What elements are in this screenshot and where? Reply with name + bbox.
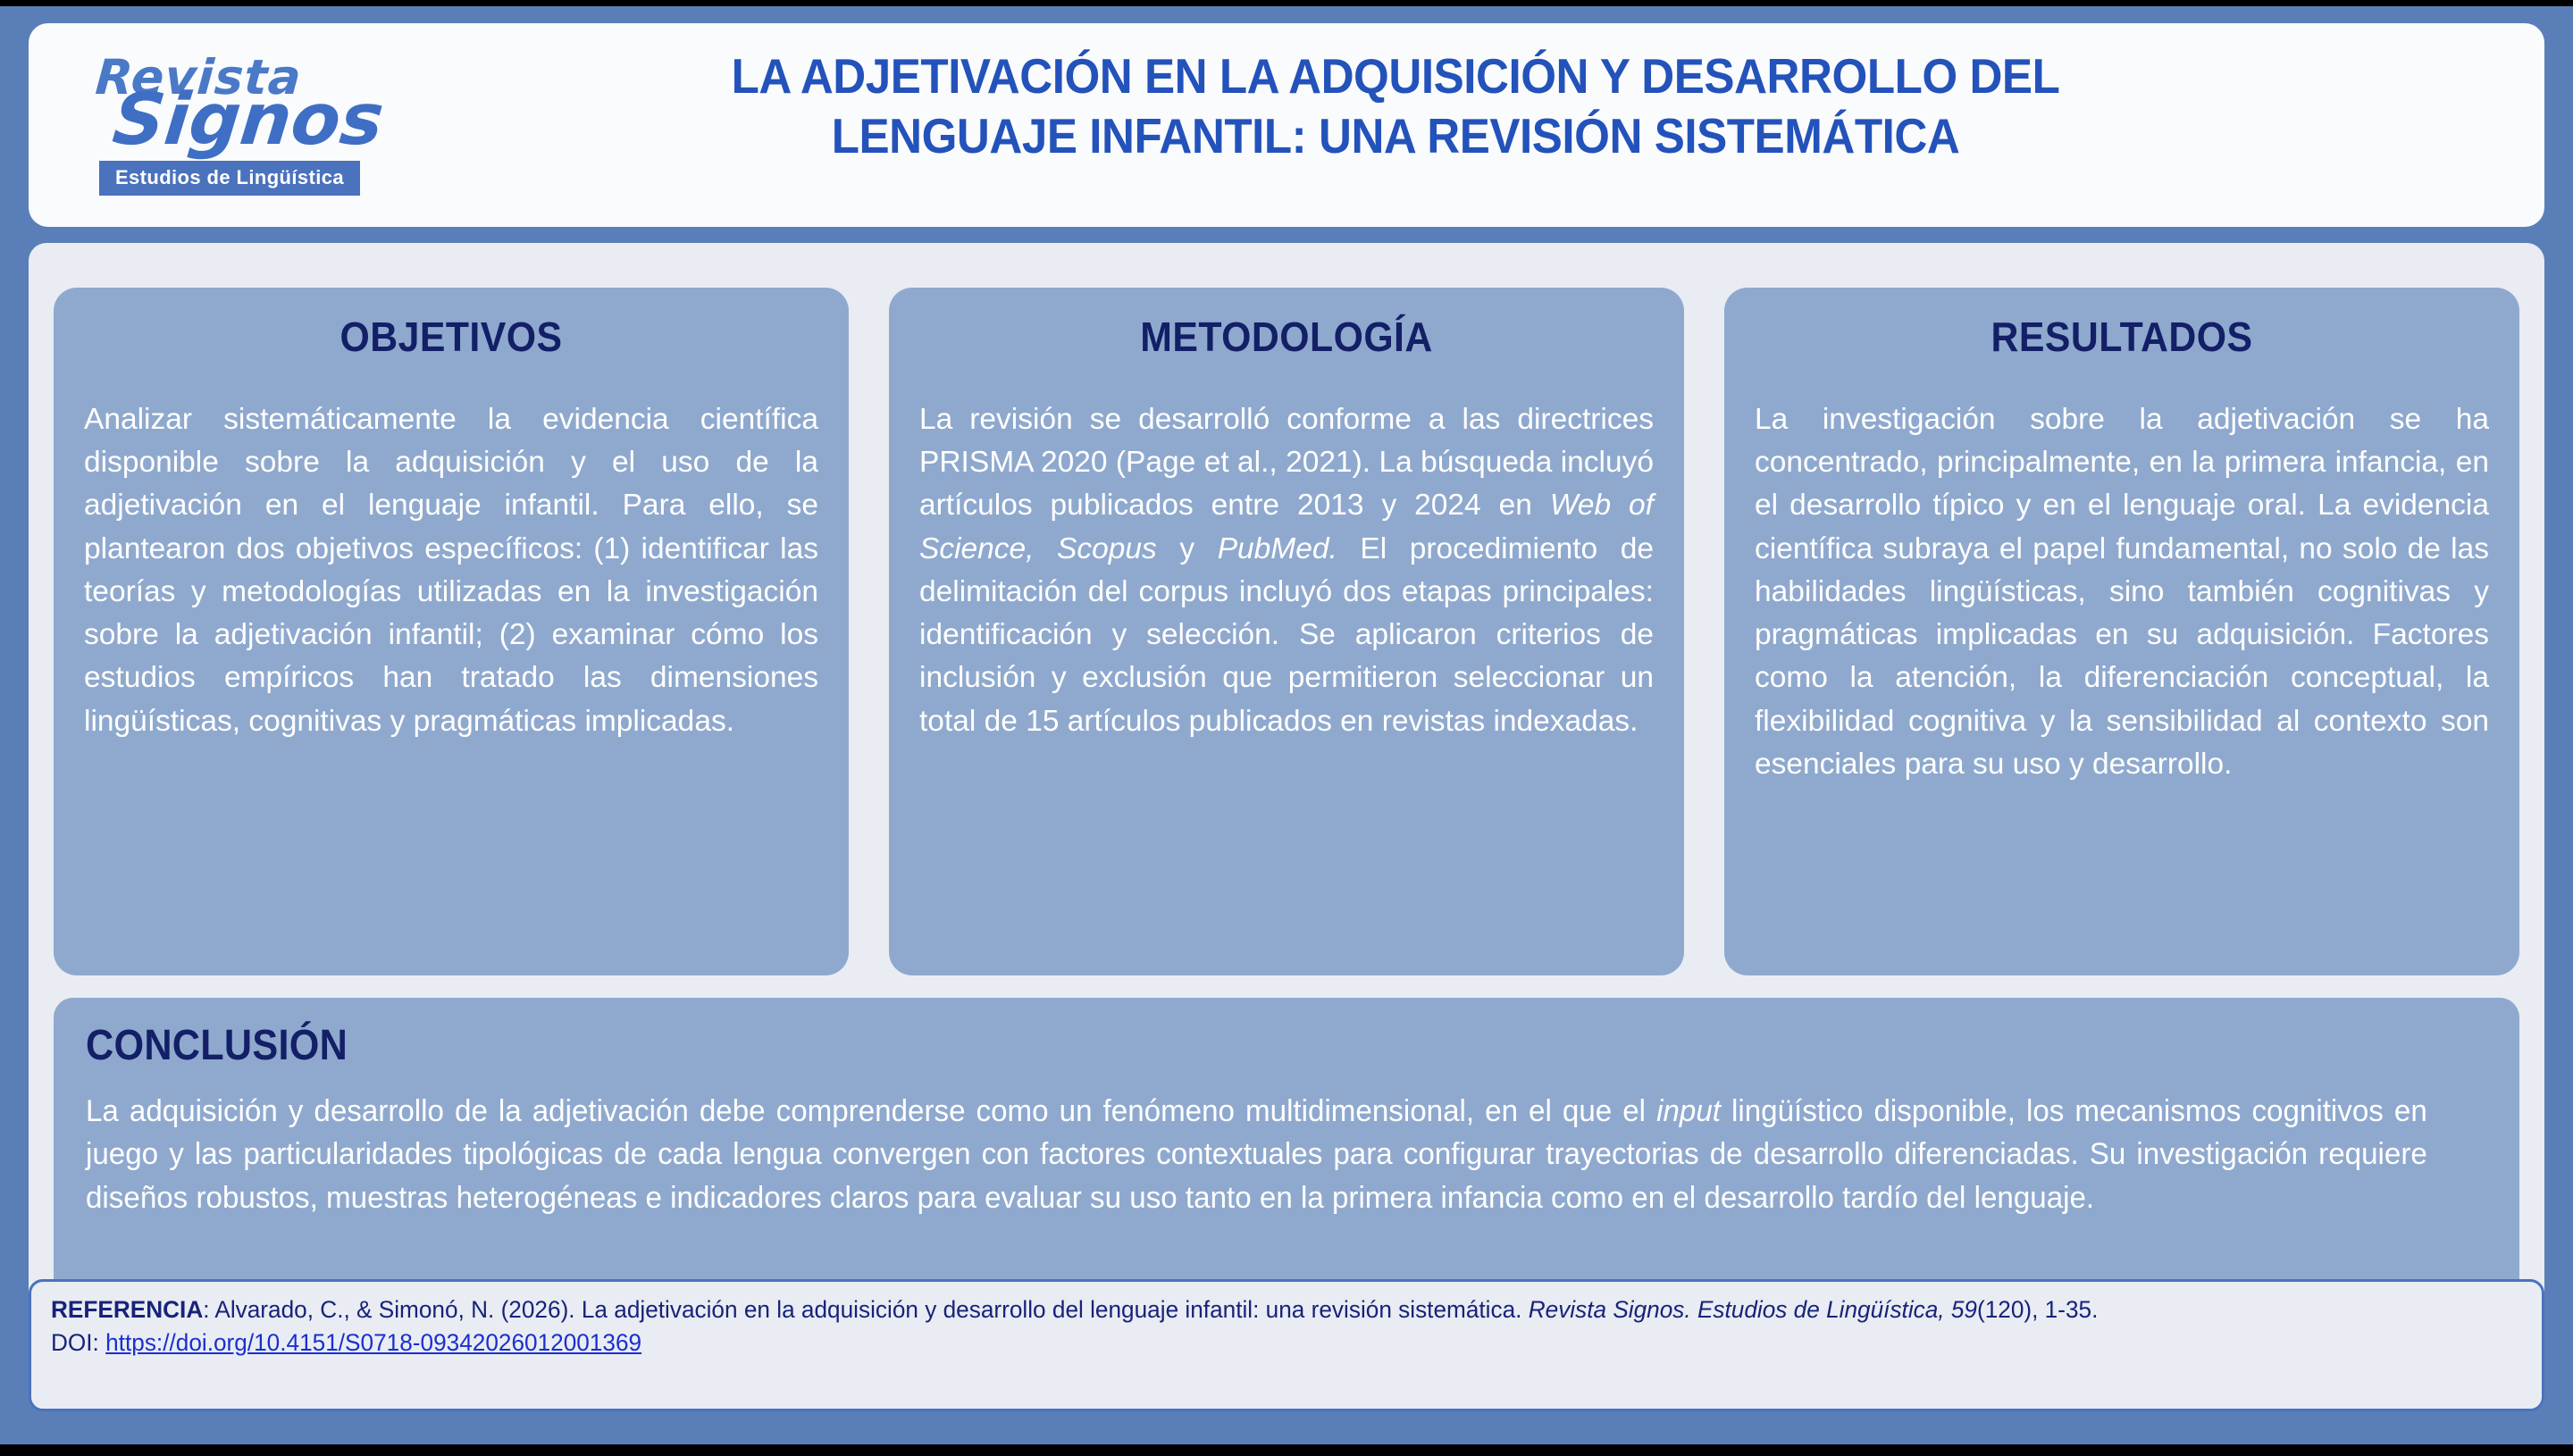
card-body-resultados: La investigación sobre la adjetivación s… <box>1755 398 2489 786</box>
card-title-objetivos: OBJETIVOS <box>110 313 792 361</box>
card-title-resultados: RESULTADOS <box>1781 313 2463 361</box>
header-card: Revista Signos Estudios de Lingüística L… <box>29 23 2544 227</box>
reference-box: REFERENCIA: Alvarado, C., & Simonó, N. (… <box>29 1279 2544 1411</box>
section-cards-row: OBJETIVOS Analizar sistemáticamente la e… <box>54 288 2519 975</box>
card-body-metodologia: La revisión se desarrolló conforme a las… <box>919 398 1654 743</box>
card-body-objetivos: Analizar sistemáticamente la evidencia c… <box>84 398 818 743</box>
poster-frame: Revista Signos Estudios de Lingüística L… <box>0 6 2573 1444</box>
logo-subtitle-bar: Estudios de Lingüística <box>99 161 360 196</box>
page-title: LA ADJETIVACIÓN EN LA ADQUISICIÓN Y DESA… <box>490 46 2301 166</box>
doi-label: DOI: <box>51 1329 99 1356</box>
reference-citation: REFERENCIA: Alvarado, C., & Simonó, N. (… <box>51 1294 2448 1326</box>
card-title-conclusion: CONCLUSIÓN <box>86 1021 2247 1070</box>
journal-logo: Revista Signos Estudios de Lingüística <box>38 36 422 214</box>
card-metodologia: METODOLOGÍA La revisión se desarrolló co… <box>889 288 1684 975</box>
doi-line: DOI: https://doi.org/10.4151/S0718-09342… <box>51 1327 2448 1359</box>
card-objetivos: OBJETIVOS Analizar sistemáticamente la e… <box>54 288 849 975</box>
card-body-conclusion: La adquisición y desarrollo de la adjeti… <box>86 1090 2427 1219</box>
doi-link[interactable]: https://doi.org/10.4151/S0718-0934202601… <box>105 1329 641 1356</box>
main-panel: OBJETIVOS Analizar sistemáticamente la e… <box>29 243 2544 1395</box>
page-title-line-2: LENGUAJE INFANTIL: UNA REVISIÓN SISTEMÁT… <box>490 106 2301 166</box>
card-resultados: RESULTADOS La investigación sobre la adj… <box>1724 288 2519 975</box>
page-title-line-1: LA ADJETIVACIÓN EN LA ADQUISICIÓN Y DESA… <box>490 46 2301 106</box>
card-title-metodologia: METODOLOGÍA <box>945 313 1628 361</box>
logo-word-signos: Signos <box>110 88 386 152</box>
